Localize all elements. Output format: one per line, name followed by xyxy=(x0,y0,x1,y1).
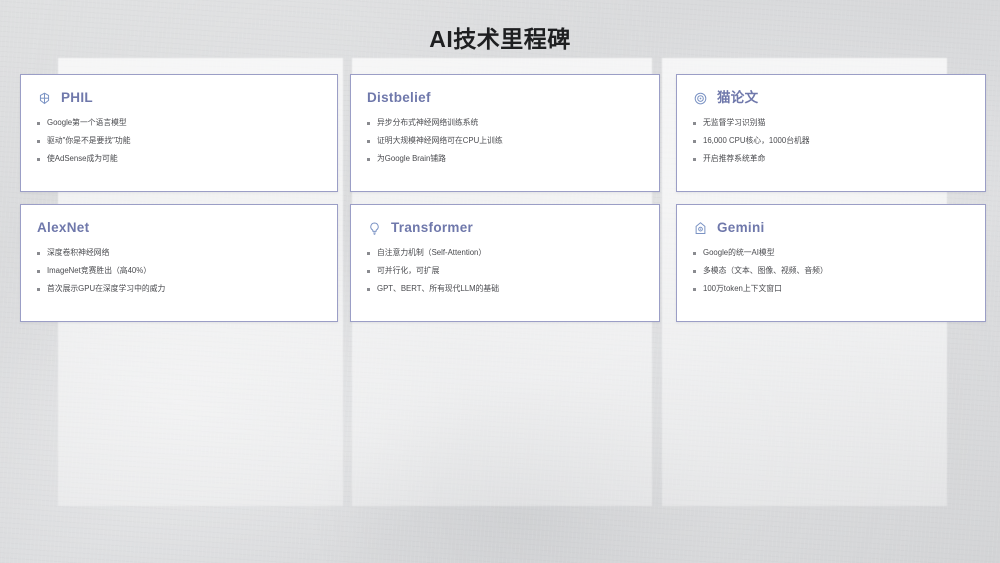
bullet-marker xyxy=(37,122,40,125)
milestone-card-alexnet[interactable]: AlexNet 深度卷积神经网络 ImageNet竞赛胜出（高40%） 首次展示… xyxy=(20,204,338,322)
list-item: 100万token上下文窗口 xyxy=(693,285,969,293)
list-item: 为Google Brain铺路 xyxy=(367,155,643,163)
brain-icon xyxy=(37,91,52,106)
card-title: AlexNet xyxy=(37,221,89,235)
list-item: 无监督学习识别猫 xyxy=(693,119,969,127)
bullet-marker xyxy=(37,140,40,143)
list-item: 深度卷积神经网络 xyxy=(37,249,321,257)
list-item: 自注意力机制（Self-Attention） xyxy=(367,249,643,257)
bullet-text: 无监督学习识别猫 xyxy=(703,119,765,127)
bullet-marker xyxy=(37,252,40,255)
bullet-text: 100万token上下文窗口 xyxy=(703,285,782,293)
list-item: Google第一个语言模型 xyxy=(37,119,321,127)
bullet-text: 开启推荐系统革命 xyxy=(703,155,765,163)
bullet-marker xyxy=(37,270,40,273)
card-title: Gemini xyxy=(717,221,765,235)
list-item: 驱动"你是不是要找"功能 xyxy=(37,137,321,145)
card-header: Transformer xyxy=(367,218,643,238)
list-item: 首次展示GPU在深度学习中的威力 xyxy=(37,285,321,293)
card-header: PHIL xyxy=(37,88,321,108)
bullet-marker xyxy=(367,158,370,161)
list-item: GPT、BERT、所有现代LLM的基础 xyxy=(367,285,643,293)
bullet-text: ImageNet竞赛胜出（高40%） xyxy=(47,267,151,275)
milestone-card-grid: PHIL Google第一个语言模型 驱动"你是不是要找"功能 使AdSense… xyxy=(20,74,982,322)
milestone-card-transformer[interactable]: Transformer 自注意力机制（Self-Attention） 可并行化，… xyxy=(350,204,660,322)
milestone-card-gemini[interactable]: Gemini Google的统一AI模型 多模态（文本、图像、视频、音频） 10… xyxy=(676,204,986,322)
bullet-list: 深度卷积神经网络 ImageNet竞赛胜出（高40%） 首次展示GPU在深度学习… xyxy=(37,249,321,292)
bullet-text: 为Google Brain铺路 xyxy=(377,155,446,163)
bullet-marker xyxy=(367,270,370,273)
bullet-text: 异步分布式神经网络训练系统 xyxy=(377,119,478,127)
list-item: 开启推荐系统革命 xyxy=(693,155,969,163)
bullet-marker xyxy=(37,288,40,291)
bullet-list: 异步分布式神经网络训练系统 证明大规模神经网络可在CPU上训练 为Google … xyxy=(367,119,643,162)
card-header: Distbelief xyxy=(367,88,643,108)
list-item: 异步分布式神经网络训练系统 xyxy=(367,119,643,127)
list-item: ImageNet竞赛胜出（高40%） xyxy=(37,267,321,275)
bullet-text: 深度卷积神经网络 xyxy=(47,249,109,257)
bullet-text: GPT、BERT、所有现代LLM的基础 xyxy=(377,285,499,293)
lightbulb-icon xyxy=(367,221,382,236)
list-item: 使AdSense成为可能 xyxy=(37,155,321,163)
list-item: 证明大规模神经网络可在CPU上训练 xyxy=(367,137,643,145)
bullet-text: 首次展示GPU在深度学习中的威力 xyxy=(47,285,165,293)
card-title: Distbelief xyxy=(367,91,431,105)
bullet-marker xyxy=(367,288,370,291)
bullet-text: 可并行化，可扩展 xyxy=(377,267,439,275)
list-item: 多模态（文本、图像、视频、音频） xyxy=(693,267,969,275)
robot-icon xyxy=(693,221,708,236)
bullet-text: 自注意力机制（Self-Attention） xyxy=(377,249,486,257)
bullet-text: 16,000 CPU核心，1000台机器 xyxy=(703,137,810,145)
bullet-text: 多模态（文本、图像、视频、音频） xyxy=(703,267,828,275)
bullet-text: 驱动"你是不是要找"功能 xyxy=(47,137,131,145)
milestone-card-distbelief[interactable]: Distbelief 异步分布式神经网络训练系统 证明大规模神经网络可在CPU上… xyxy=(350,74,660,192)
bullet-marker xyxy=(693,270,696,273)
bullet-marker xyxy=(693,158,696,161)
bullet-marker xyxy=(367,122,370,125)
bullet-marker xyxy=(367,252,370,255)
target-icon xyxy=(693,91,708,106)
card-title: Transformer xyxy=(391,221,473,235)
milestone-card-phil[interactable]: PHIL Google第一个语言模型 驱动"你是不是要找"功能 使AdSense… xyxy=(20,74,338,192)
bullet-marker xyxy=(37,158,40,161)
card-header: AlexNet xyxy=(37,218,321,238)
bullet-marker xyxy=(693,252,696,255)
bullet-text: Google第一个语言模型 xyxy=(47,119,127,127)
bullet-marker xyxy=(693,122,696,125)
bullet-marker xyxy=(367,140,370,143)
bullet-list: 自注意力机制（Self-Attention） 可并行化，可扩展 GPT、BERT… xyxy=(367,249,643,292)
bullet-list: Google第一个语言模型 驱动"你是不是要找"功能 使AdSense成为可能 xyxy=(37,119,321,162)
page-title: AI技术里程碑 xyxy=(0,20,1000,54)
list-item: 16,000 CPU核心，1000台机器 xyxy=(693,137,969,145)
bullet-list: 无监督学习识别猫 16,000 CPU核心，1000台机器 开启推荐系统革命 xyxy=(693,119,969,162)
card-title: PHIL xyxy=(61,91,93,105)
bullet-text: Google的统一AI模型 xyxy=(703,249,775,257)
card-header: 猫论文 xyxy=(693,88,969,108)
bullet-text: 证明大规模神经网络可在CPU上训练 xyxy=(377,137,503,145)
list-item: Google的统一AI模型 xyxy=(693,249,969,257)
card-title: 猫论文 xyxy=(717,91,758,105)
milestone-card-cat-paper[interactable]: 猫论文 无监督学习识别猫 16,000 CPU核心，1000台机器 开启推荐系统… xyxy=(676,74,986,192)
bullet-marker xyxy=(693,288,696,291)
list-item: 可并行化，可扩展 xyxy=(367,267,643,275)
bullet-marker xyxy=(693,140,696,143)
bullet-text: 使AdSense成为可能 xyxy=(47,155,118,163)
card-header: Gemini xyxy=(693,218,969,238)
bullet-list: Google的统一AI模型 多模态（文本、图像、视频、音频） 100万token… xyxy=(693,249,969,292)
